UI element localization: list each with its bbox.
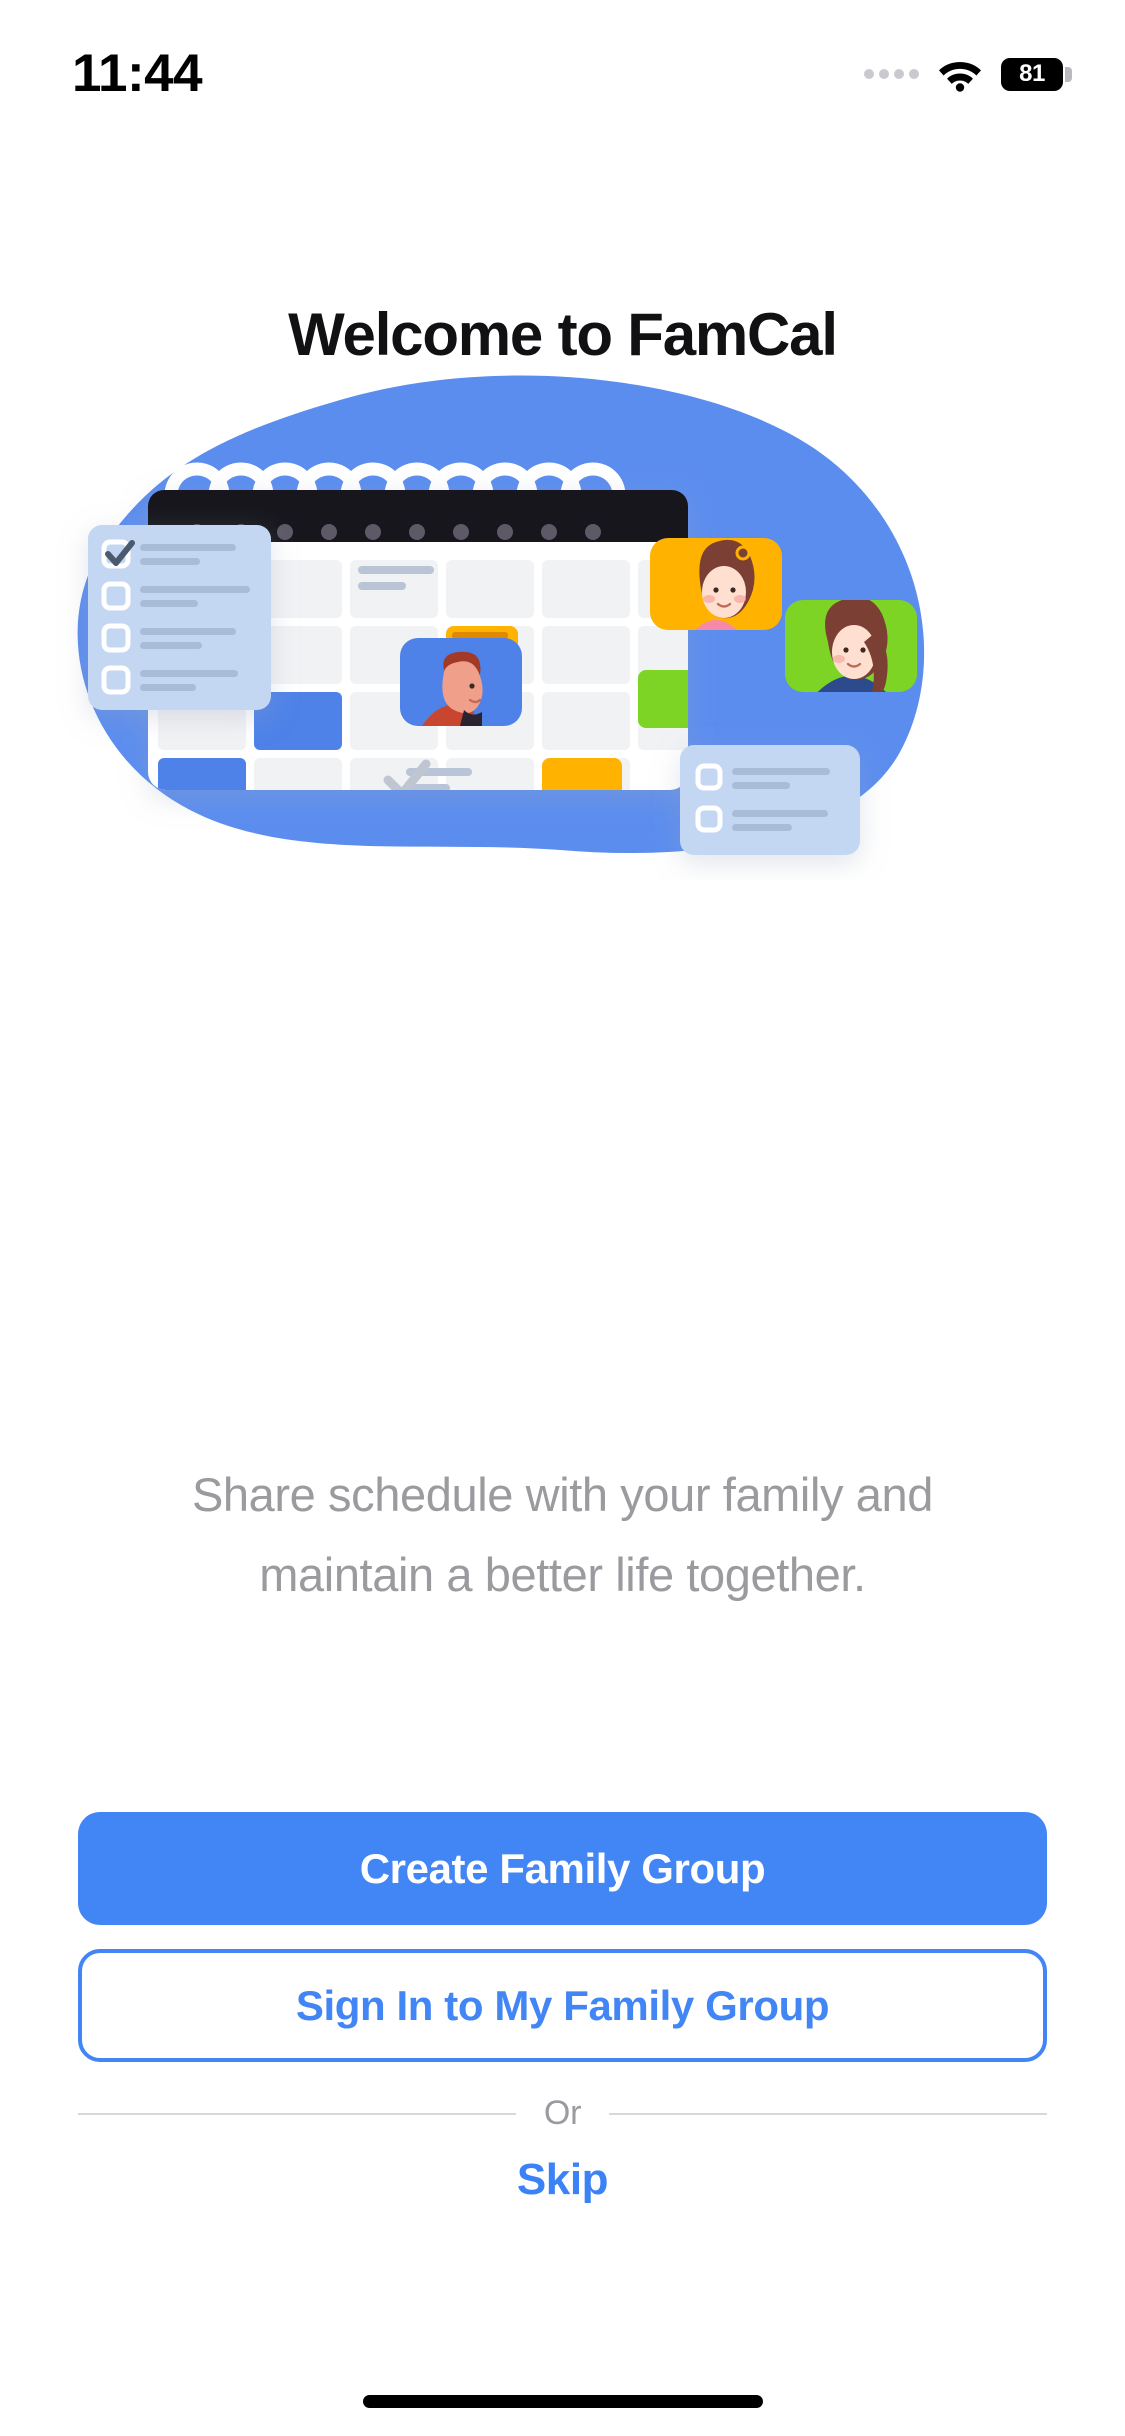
battery-level: 81 [1019,60,1045,88]
checklist-card-right [680,745,860,855]
actions-section: Create Family Group Sign In to My Family… [78,1812,1047,2205]
family-calendar-illustration [40,370,1085,880]
page-subtitle: Share schedule with your family and main… [0,1455,1125,1615]
subtitle-line-1: Share schedule with your family and [0,1455,1125,1535]
wifi-icon [937,56,983,92]
divider-label: Or [544,2094,581,2133]
or-divider: Or [78,2094,1047,2133]
checklist-card-left [88,525,271,710]
divider-line-right [609,2113,1047,2115]
battery-icon: 81 [1001,58,1063,91]
status-bar-indicators: 81 [864,56,1063,92]
boy-avatar [400,638,522,734]
sign-in-family-group-button[interactable]: Sign In to My Family Group [78,1949,1047,2062]
status-bar: 11:44 81 [0,0,1125,130]
home-indicator[interactable] [363,2395,763,2408]
divider-line-left [78,2113,516,2115]
create-family-group-button[interactable]: Create Family Group [78,1812,1047,1925]
skip-link[interactable]: Skip [78,2155,1047,2205]
subtitle-line-2: maintain a better life together. [0,1535,1125,1615]
page-title: Welcome to FamCal [0,300,1125,369]
status-bar-time: 11:44 [72,43,202,104]
signal-dots-icon [864,69,919,79]
